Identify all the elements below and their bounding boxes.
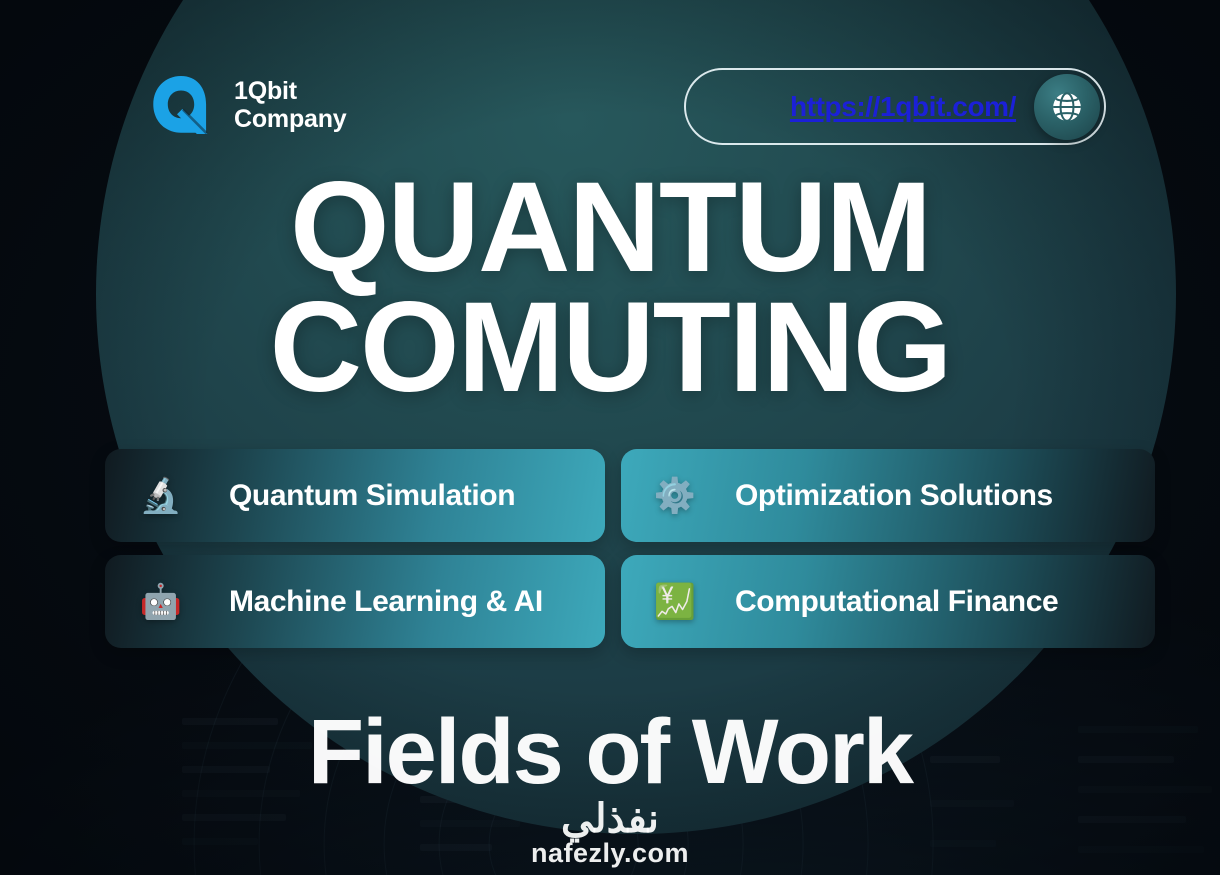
poster-canvas: 1Qbit Company https://1qbit.com/ QUANTUM… xyxy=(0,0,1220,875)
field-card-quantum-simulation[interactable]: 🔬 Quantum Simulation xyxy=(105,449,605,542)
brand-name-line1: 1Qbit xyxy=(234,77,347,105)
field-card-computational-finance[interactable]: 💹 Computational Finance xyxy=(621,555,1155,648)
footer-title: Fields of Work xyxy=(0,700,1220,805)
main-headline: QUANTUM COMUTING xyxy=(0,168,1220,407)
headline-line-2: COMUTING xyxy=(0,288,1220,408)
brand-name-line2: Company xyxy=(234,105,347,133)
brand-block: 1Qbit Company xyxy=(148,72,347,138)
globe-icon[interactable] xyxy=(1034,74,1100,140)
microscope-icon: 🔬 xyxy=(133,479,189,513)
headline-line-1: QUANTUM xyxy=(0,168,1220,288)
field-card-label: Quantum Simulation xyxy=(229,479,515,513)
field-card-label: Machine Learning & AI xyxy=(229,585,543,619)
1qbit-q-logo-icon xyxy=(148,72,214,138)
fields-card-grid: 🔬 Quantum Simulation ⚙️ Optimization Sol… xyxy=(105,449,1155,648)
field-card-optimization-solutions[interactable]: ⚙️ Optimization Solutions xyxy=(621,449,1155,542)
gear-icon: ⚙️ xyxy=(647,479,703,513)
chart-increasing-yen-icon: 💹 xyxy=(647,585,703,619)
robot-icon: 🤖 xyxy=(133,585,189,619)
field-card-label: Optimization Solutions xyxy=(735,479,1053,513)
field-card-machine-learning-ai[interactable]: 🤖 Machine Learning & AI xyxy=(105,555,605,648)
website-url-pill[interactable]: https://1qbit.com/ xyxy=(684,68,1106,145)
globe-glyph xyxy=(1049,89,1085,125)
field-card-label: Computational Finance xyxy=(735,585,1058,619)
